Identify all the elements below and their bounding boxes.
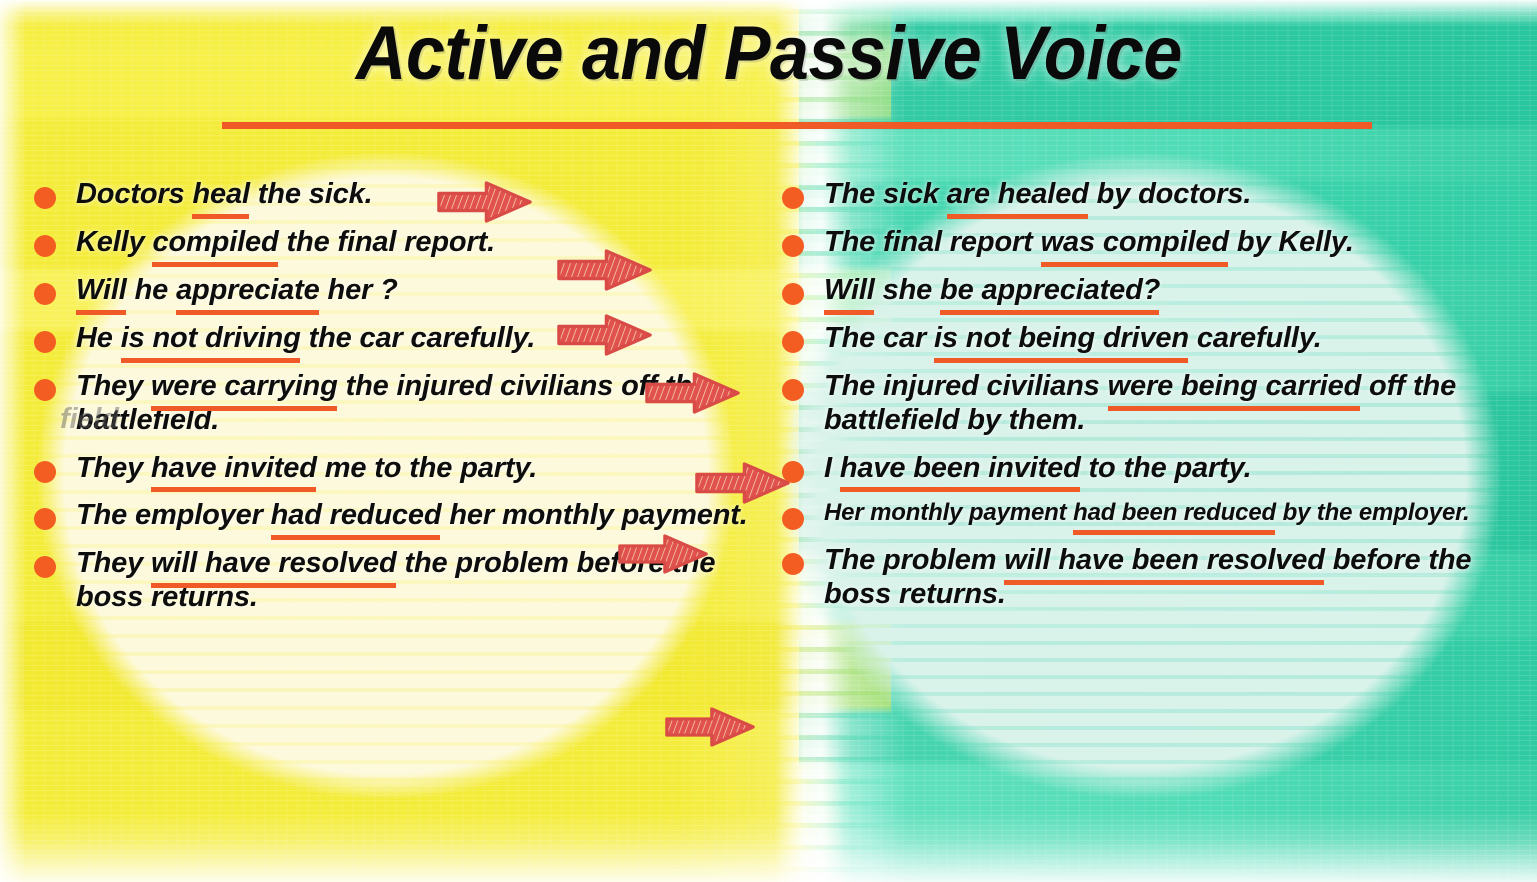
sentence-text: The employer xyxy=(76,499,271,531)
underlined-verb-phrase: is not driving xyxy=(121,322,301,356)
underlined-verb-phrase: Will xyxy=(824,274,875,308)
passive-sentence: The final report was compiled by Kelly. xyxy=(824,226,1510,260)
list-item: Doctors heal the sick. xyxy=(34,178,748,212)
bullet-dot-icon xyxy=(34,461,56,483)
arrow-right-icon-3 xyxy=(557,314,652,356)
arrow-right-icon-2 xyxy=(557,249,652,291)
list-item: Her monthly payment had been reduced by … xyxy=(782,499,1510,530)
sentence-text: The sick xyxy=(824,178,947,210)
active-sentence: They have invited me to the party. xyxy=(76,452,748,486)
sentence-text: her monthly payment. xyxy=(441,499,747,531)
bullet-dot-icon xyxy=(34,556,56,578)
arrow-right-icon-4 xyxy=(645,372,740,414)
passive-sentence: I have been invited to the party. xyxy=(824,452,1510,486)
bullet-dot-icon xyxy=(782,553,804,575)
bullet-dot-icon xyxy=(34,508,56,530)
passive-voice-list: The sick are healed by doctors.The final… xyxy=(782,178,1510,626)
sentence-text: The car xyxy=(824,322,934,354)
passive-sentence: The injured civilians were being carried… xyxy=(824,370,1510,438)
list-item: The final report was compiled by Kelly. xyxy=(782,226,1510,260)
underlined-verb-phrase: will have been resolved xyxy=(1004,544,1325,578)
underlined-verb-phrase: had been reduced xyxy=(1073,499,1276,527)
sentence-text: by the employer. xyxy=(1276,499,1470,526)
bullet-dot-icon xyxy=(782,235,804,257)
bullet-dot-icon xyxy=(34,235,56,257)
bullet-dot-icon xyxy=(782,283,804,305)
underlined-verb-phrase: had reduced xyxy=(271,499,442,533)
bullet-dot-icon xyxy=(34,283,56,305)
sentence-text: They xyxy=(76,547,151,579)
title-underline-rule xyxy=(222,122,1372,129)
sentence-text: by doctors. xyxy=(1089,178,1252,210)
sentence-text: They xyxy=(76,370,151,402)
sentence-text: He xyxy=(76,322,121,354)
passive-sentence: Her monthly payment had been reduced by … xyxy=(824,499,1510,527)
sentence-text: Doctors xyxy=(76,178,192,210)
underlined-verb-phrase: be appreciated? xyxy=(940,274,1160,308)
underlined-verb-phrase: have been invited xyxy=(840,452,1081,486)
list-item: They have invited me to the party. xyxy=(34,452,748,486)
sentence-text: by Kelly. xyxy=(1229,226,1354,258)
underlined-verb-phrase: appreciate xyxy=(176,274,320,308)
passive-sentence: The car is not being driven carefully. xyxy=(824,322,1510,356)
list-item: They were carrying the injured civilians… xyxy=(34,370,748,438)
arrow-right-icon-7 xyxy=(665,707,755,747)
bullet-dot-icon xyxy=(782,508,804,530)
sentence-text: They xyxy=(76,452,151,484)
sentence-text: Her monthly payment xyxy=(824,499,1073,526)
underlined-verb-phrase: compiled xyxy=(152,226,278,260)
underlined-verb-phrase: was compiled xyxy=(1041,226,1229,260)
title-container: Active and Passive Voice xyxy=(0,14,1537,95)
sentence-text: carefully. xyxy=(1189,322,1322,354)
sentence-text: he xyxy=(127,274,176,306)
active-sentence: The employer had reduced her monthly pay… xyxy=(76,499,748,533)
active-sentence: Doctors heal the sick. xyxy=(76,178,748,212)
arrow-right-icon-1 xyxy=(437,181,532,223)
passive-sentence: Will she be appreciated? xyxy=(824,274,1510,308)
underlined-verb-phrase: were being carried xyxy=(1108,370,1362,404)
underlined-verb-phrase: have invited xyxy=(151,452,317,486)
bullet-dot-icon xyxy=(34,331,56,353)
underlined-verb-phrase: are healed xyxy=(947,178,1089,212)
bullet-dot-icon xyxy=(782,331,804,353)
list-item: The sick are healed by doctors. xyxy=(782,178,1510,212)
bullet-dot-icon xyxy=(34,379,56,401)
sentence-text: her ? xyxy=(320,274,398,306)
sentence-text: the sick. xyxy=(250,178,373,210)
underlined-verb-phrase: were carrying xyxy=(151,370,338,404)
sentence-text: the final report. xyxy=(279,226,495,258)
list-item: Will she be appreciated? xyxy=(782,274,1510,308)
underlined-verb-phrase: heal xyxy=(192,178,249,212)
passive-sentence: The problem will have been resolved befo… xyxy=(824,544,1510,612)
poster-root: Active and Passive Voice Doctors heal th… xyxy=(0,0,1537,882)
bullet-dot-icon xyxy=(34,187,56,209)
list-item: The injured civilians were being carried… xyxy=(782,370,1510,438)
sentence-text: I xyxy=(824,452,840,484)
sentence-text: she xyxy=(875,274,940,306)
bullet-dot-icon xyxy=(782,187,804,209)
underlined-verb-phrase: is not being driven xyxy=(934,322,1189,356)
bullet-dot-icon xyxy=(782,379,804,401)
sentence-text: Kelly xyxy=(76,226,152,258)
sentence-text: me to the party. xyxy=(317,452,537,484)
passive-sentence: The sick are healed by doctors. xyxy=(824,178,1510,212)
page-title: Active and Passive Voice xyxy=(356,14,1182,95)
list-item: The employer had reduced her monthly pay… xyxy=(34,499,748,533)
sentence-text: The injured civilians xyxy=(824,370,1108,402)
voice-columns: Doctors heal the sick.Kelly compiled the… xyxy=(0,0,1537,882)
underlined-verb-phrase: Will xyxy=(76,274,127,308)
arrow-right-icon-6 xyxy=(618,534,708,574)
list-item: I have been invited to the party. xyxy=(782,452,1510,486)
sentence-text: The final report xyxy=(824,226,1041,258)
list-item: The car is not being driven carefully. xyxy=(782,322,1510,356)
arrow-right-icon-5 xyxy=(695,462,790,504)
sentence-text: to the party. xyxy=(1081,452,1252,484)
underlined-verb-phrase: will have resolved xyxy=(151,547,397,581)
list-item: The problem will have been resolved befo… xyxy=(782,544,1510,612)
sentence-text: The problem xyxy=(824,544,1004,576)
sentence-text: the car carefully. xyxy=(301,322,536,354)
